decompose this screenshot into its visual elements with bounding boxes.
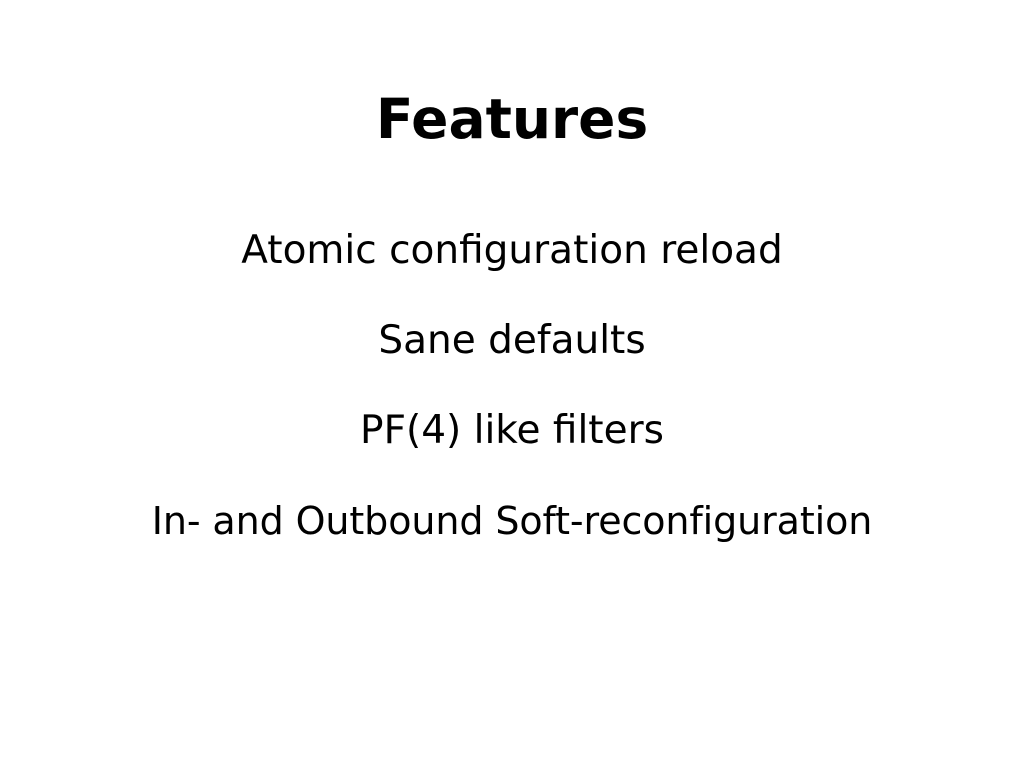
slide-bullet-item-1: Atomic configuration reload bbox=[0, 206, 1024, 296]
slide-title: Features bbox=[0, 88, 1024, 150]
slide-bullet-item-4: In- and Outbound Soft-reconfiguration bbox=[0, 476, 1024, 566]
presentation-slide: Features Atomic configuration reload San… bbox=[0, 0, 1024, 768]
slide-bullet-item-3: PF(4) like filters bbox=[0, 386, 1024, 476]
slide-bullet-item-2: Sane defaults bbox=[0, 296, 1024, 386]
slide-bullet-list: Atomic configuration reload Sane default… bbox=[0, 206, 1024, 566]
